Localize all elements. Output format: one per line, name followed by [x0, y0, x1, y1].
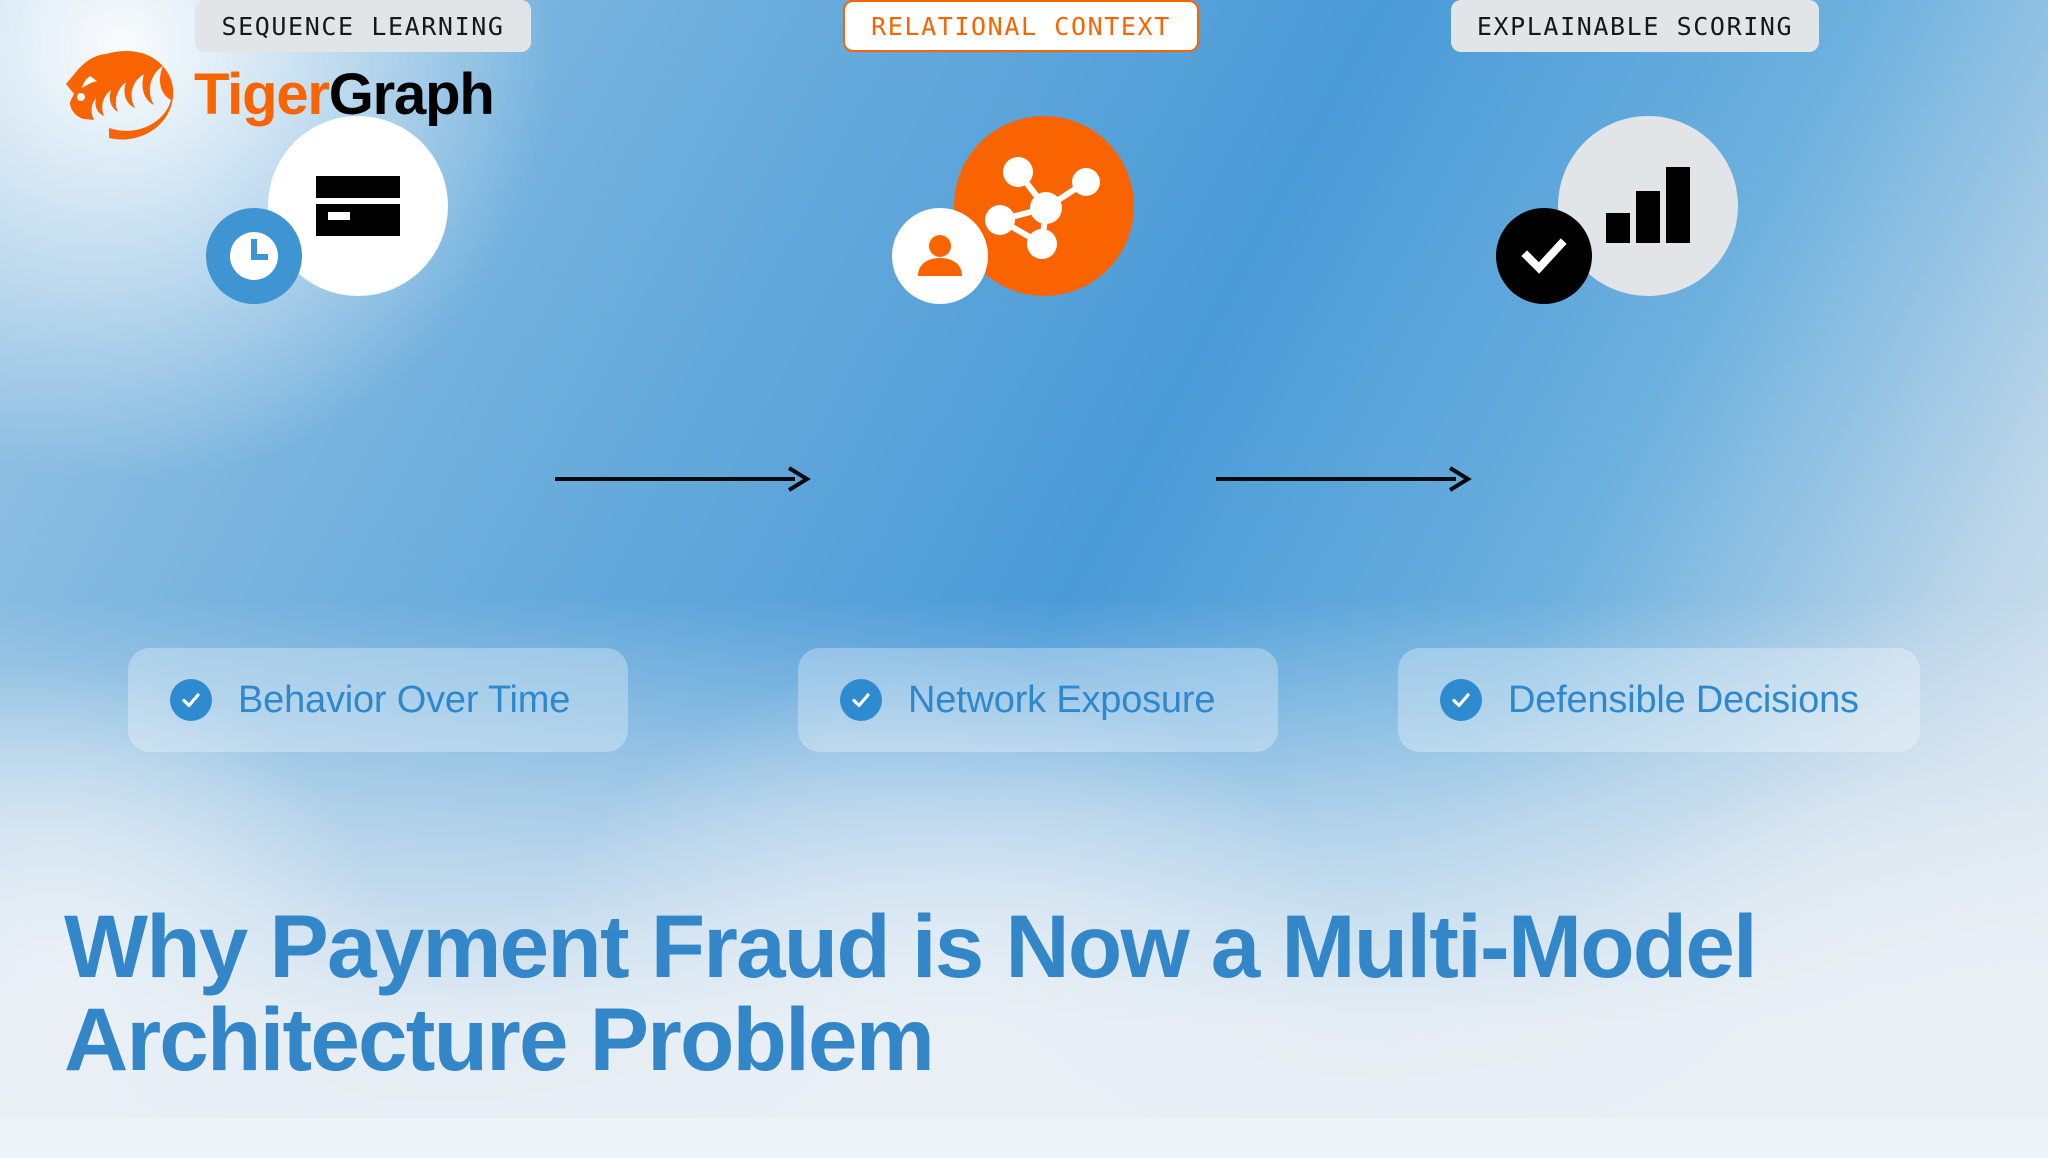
icon-cluster-sequence-learning	[128, 108, 598, 358]
circle-clock	[206, 208, 302, 304]
benefit-pill-label: Network Exposure	[908, 679, 1215, 722]
chip-row-2: EXPLAINABLE SCORING	[1400, 0, 1870, 60]
bar-chart-icon	[1600, 163, 1696, 249]
stage-chip-sequence-learning[interactable]: SEQUENCE LEARNING	[195, 0, 530, 52]
page-title-line-1: Why Payment Fraud is Now a Multi-Model	[64, 900, 1944, 993]
checkmark-icon	[1516, 228, 1572, 284]
stage-chip-relational-context[interactable]: RELATIONAL CONTEXT	[843, 0, 1199, 52]
icon-cluster-explainable-scoring	[1400, 108, 1870, 358]
background-bottom-bar	[0, 1118, 2048, 1158]
page-title-line-2: Architecture Problem	[64, 993, 1944, 1086]
stage-column-relational-context: RELATIONAL CONTEXT	[786, 0, 1256, 358]
person-icon	[912, 228, 968, 284]
check-circle-icon	[840, 679, 882, 721]
flow-arrow-1	[555, 466, 813, 492]
icon-cluster-relational-context	[786, 108, 1256, 358]
circle-checkmark	[1496, 208, 1592, 304]
benefit-pill-defensible-decisions[interactable]: Defensible Decisions	[1398, 648, 1920, 752]
check-circle-icon	[170, 679, 212, 721]
benefit-pill-label: Behavior Over Time	[238, 679, 570, 722]
benefit-pill-row: Behavior Over Time Network Exposure Defe…	[0, 648, 2048, 768]
credit-card-icon	[312, 170, 404, 242]
clock-icon	[224, 226, 284, 286]
check-circle-icon	[1440, 679, 1482, 721]
chip-row-1: RELATIONAL CONTEXT	[786, 0, 1256, 60]
stage-column-sequence-learning: SEQUENCE LEARNING	[128, 0, 598, 358]
page-title: Why Payment Fraud is Now a Multi-Model A…	[64, 900, 1944, 1085]
benefit-pill-label: Defensible Decisions	[1508, 679, 1859, 722]
benefit-pill-behavior-over-time[interactable]: Behavior Over Time	[128, 648, 628, 752]
circle-person	[892, 208, 988, 304]
network-graph-icon	[984, 150, 1104, 262]
chip-row-0: SEQUENCE LEARNING	[128, 0, 598, 60]
flow-arrow-2	[1216, 466, 1474, 492]
stage-column-explainable-scoring: EXPLAINABLE SCORING	[1400, 0, 1870, 358]
stage-chip-explainable-scoring[interactable]: EXPLAINABLE SCORING	[1451, 0, 1819, 52]
benefit-pill-network-exposure[interactable]: Network Exposure	[798, 648, 1278, 752]
